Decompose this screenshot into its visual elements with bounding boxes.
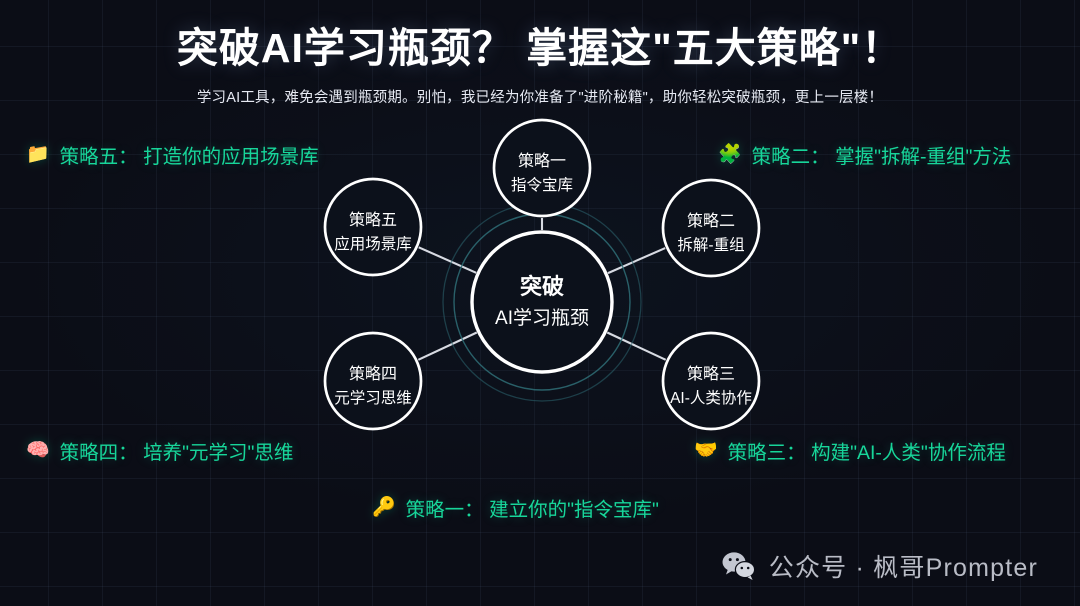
connector-line-s4	[418, 332, 476, 359]
caption-strategy-three: 🤝 策略三： 构建"AI-人类"协作流程	[694, 436, 1006, 465]
node-label-line1-s2: 策略二	[687, 212, 735, 230]
node-label-line1-s4: 策略四	[349, 365, 397, 383]
caption-strategy-two: 🧩 策略二： 掌握"拆解-重组"方法	[718, 140, 1011, 169]
wechat-icon	[722, 551, 756, 581]
node-label-line2-s3: AI-人类协作	[670, 389, 752, 407]
node-s4[interactable]: 策略四元学习思维	[325, 333, 421, 429]
node-s3[interactable]: 策略三AI-人类协作	[663, 333, 759, 429]
node-label-line1-s5: 策略五	[349, 211, 397, 229]
caption-strategy-three-label: 策略三： 构建"AI-人类"协作流程	[728, 436, 1006, 465]
puzzle-piece-icon: 🧩	[718, 145, 742, 164]
caption-strategy-four-label: 策略四： 培养"元学习"思维	[60, 436, 294, 465]
hub-node[interactable]: 突破 AI学习瓶颈	[472, 232, 612, 372]
watermark: 公众号 · 枫哥Prompter	[722, 548, 1038, 584]
watermark-text: 公众号 · 枫哥Prompter	[769, 548, 1038, 584]
caption-strategy-two-label: 策略二： 掌握"拆解-重组"方法	[752, 140, 1012, 169]
hub-label-line1: 突破	[520, 274, 564, 299]
node-label-line2-s4: 元学习思维	[334, 389, 412, 407]
node-label-line2-s5: 应用场景库	[334, 234, 412, 253]
folder-icon: 📁	[26, 145, 50, 164]
hub-circle[interactable]	[472, 232, 612, 372]
caption-strategy-one-label: 策略一： 建立你的"指令宝库"	[406, 493, 659, 522]
connector-line-s3	[607, 332, 665, 359]
node-label-line2-s1: 指令宝库	[511, 176, 573, 194]
connector-line-s5	[419, 247, 476, 273]
connector-line-s2	[608, 248, 665, 273]
key-icon: 🔑	[372, 498, 396, 517]
caption-strategy-one: 🔑 策略一： 建立你的"指令宝库"	[372, 493, 659, 522]
node-s2[interactable]: 策略二拆解-重组	[663, 180, 759, 276]
caption-strategy-five: 📁 策略五： 打造你的应用场景库	[26, 140, 319, 169]
node-label-line1-s1: 策略一	[518, 152, 566, 170]
caption-strategy-four: 🧠 策略四： 培养"元学习"思维	[26, 436, 293, 465]
node-s5[interactable]: 策略五应用场景库	[325, 179, 421, 275]
node-label-line1-s3: 策略三	[687, 365, 735, 383]
hub-label-line2: AI学习瓶颈	[495, 307, 589, 329]
caption-strategy-five-label: 策略五： 打造你的应用场景库	[60, 140, 319, 169]
handshake-icon: 🤝	[694, 441, 718, 460]
node-s1[interactable]: 策略一指令宝库	[494, 120, 590, 216]
brain-icon: 🧠	[26, 441, 50, 460]
node-label-line2-s2: 拆解-重组	[677, 236, 744, 254]
